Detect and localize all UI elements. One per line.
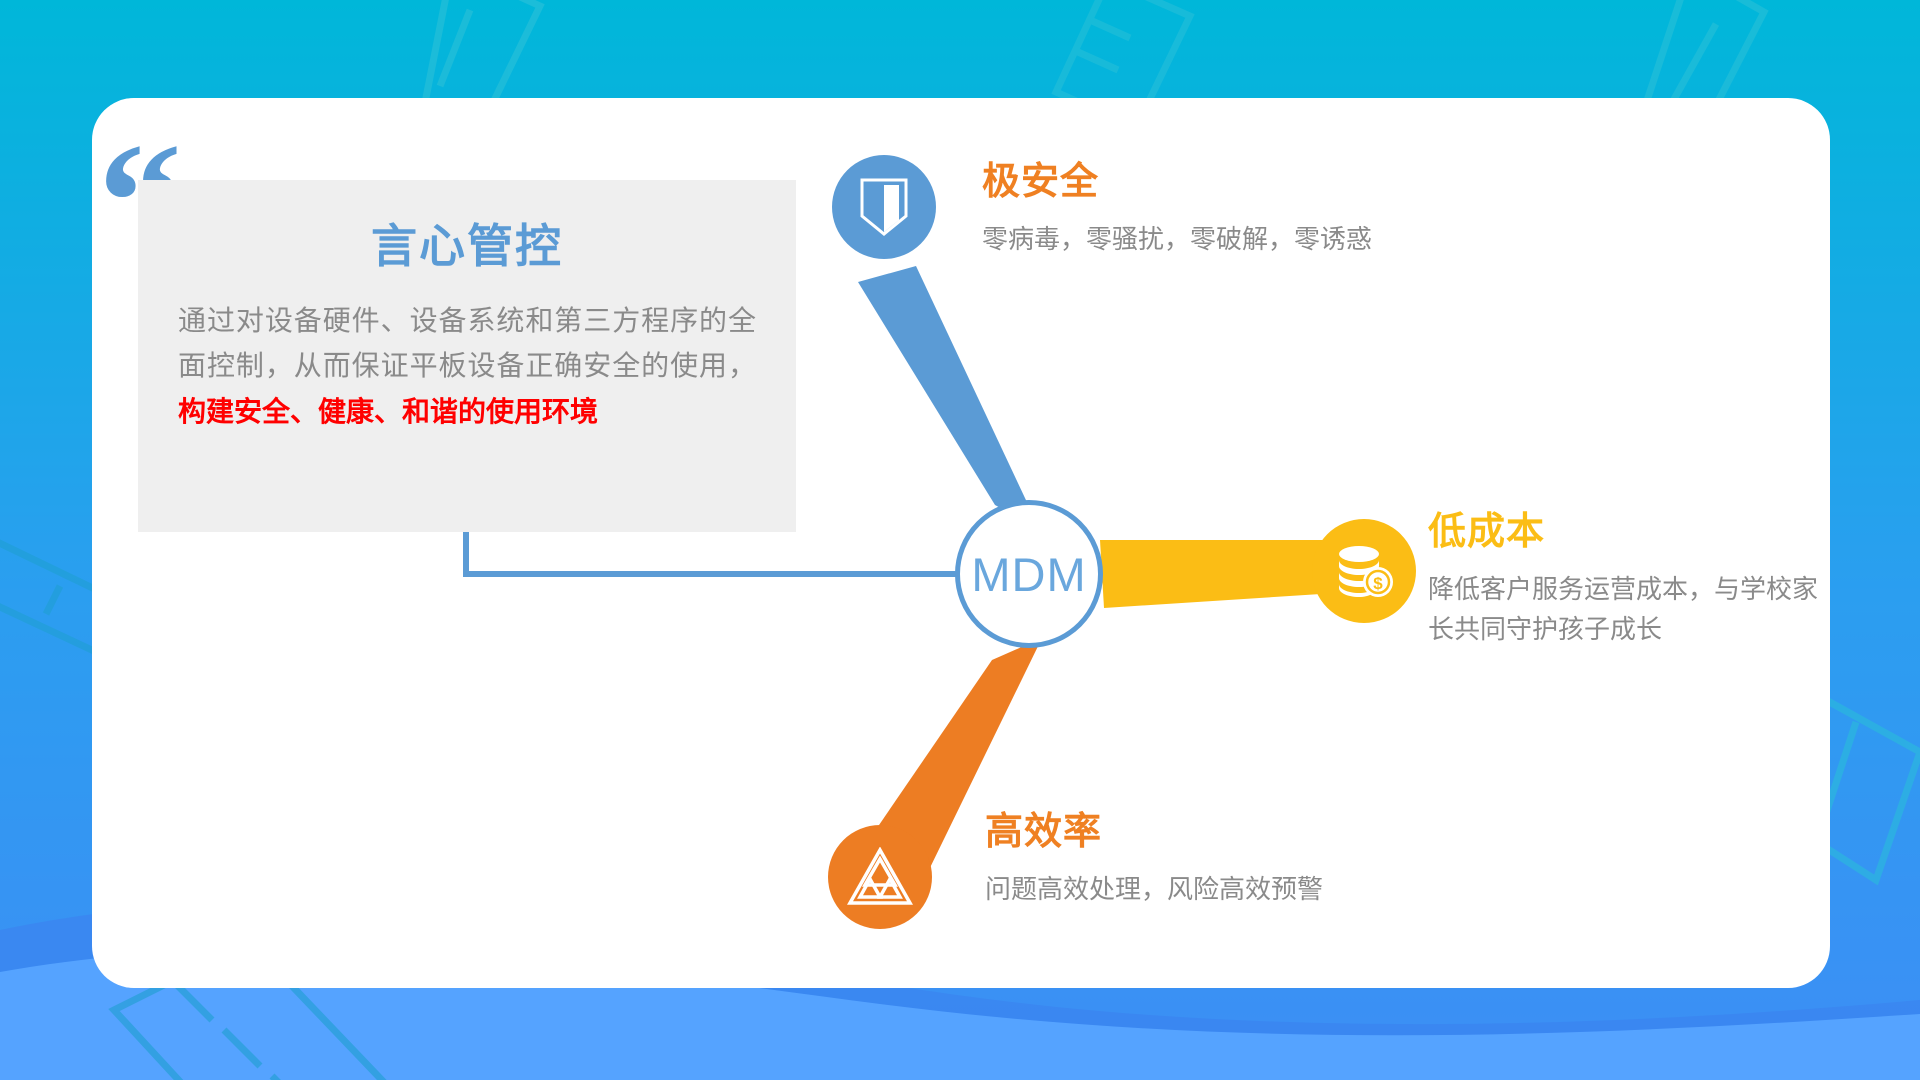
cost-node[interactable]: $ [1312, 519, 1416, 623]
feature-security-title: 极安全 [982, 150, 1542, 205]
connector-line [466, 532, 1024, 574]
center-node-mdm[interactable]: MDM [955, 500, 1103, 648]
feature-efficiency-title: 高效率 [985, 800, 1345, 855]
feature-efficiency: 高效率 问题高效处理，风险高效预警 [985, 800, 1345, 909]
coins-icon: $ [1333, 542, 1395, 600]
efficiency-node[interactable] [828, 825, 932, 929]
slide-canvas: “ 言心管控 通过对设备硬件、设备系统和第三方程序的全面控制，从而保证平板设备正… [0, 0, 1920, 1080]
security-node[interactable] [832, 155, 936, 259]
feature-cost: 低成本 降低客户服务运营成本，与学校家长共同守护孩子成长 [1428, 500, 1828, 650]
svg-text:$: $ [1373, 574, 1383, 593]
feature-cost-title: 低成本 [1428, 500, 1828, 555]
wedge-security [858, 266, 1040, 530]
feature-security-description: 零病毒，零骚扰，零破解，零诱惑 [982, 219, 1542, 259]
feature-security: 极安全 零病毒，零骚扰，零破解，零诱惑 [982, 150, 1542, 259]
feature-cost-description: 降低客户服务运营成本，与学校家长共同守护孩子成长 [1428, 569, 1828, 650]
feature-efficiency-description: 问题高效处理，风险高效预警 [985, 869, 1345, 909]
shield-icon [856, 176, 912, 238]
center-node-label: MDM [971, 547, 1086, 602]
triangle-icon [847, 847, 913, 907]
